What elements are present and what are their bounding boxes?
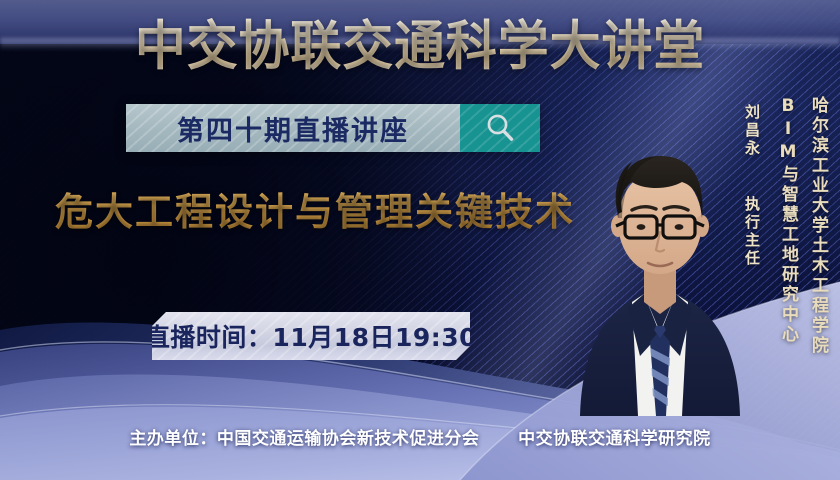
footer: 主办单位：中国交通运输协会新技术促进分会 中交协联交通科学研究院 [0,424,840,449]
episode-band-body: 第四十期直播讲座 [126,104,460,152]
search-button[interactable] [460,104,540,152]
live-time-label: 直播时间：11月18日19:30 [152,318,470,354]
episode-band: 第四十期直播讲座 [126,104,540,152]
search-icon [483,111,517,145]
footer-co-organizer: 中交协联交通科学研究院 [518,429,711,449]
speaker-affiliation: 哈尔滨工业大学土木工程学院 [806,96,831,356]
speaker-role: 执行主任 [742,196,763,268]
footer-organizer: 主办单位：中国交通运输协会新技术促进分会 [129,429,479,449]
topic-title: 危大工程设计与管理关键技术 [55,189,575,235]
speaker-research-center: BIM与智慧工地研究中心 [776,96,801,345]
live-time-banner: 直播时间：11月18日19:30 [152,312,470,360]
speaker-name: 刘昌永 [742,104,763,158]
episode-label: 第四十期直播讲座 [177,109,409,148]
page-title: 中交协联交通科学大讲堂 [17,18,823,76]
speaker-photo [570,86,750,416]
livestream-poster: 中交协联交通科学大讲堂 第四十期直播讲座 危大工程设计与管理关键技术 直播时间：… [0,0,840,480]
